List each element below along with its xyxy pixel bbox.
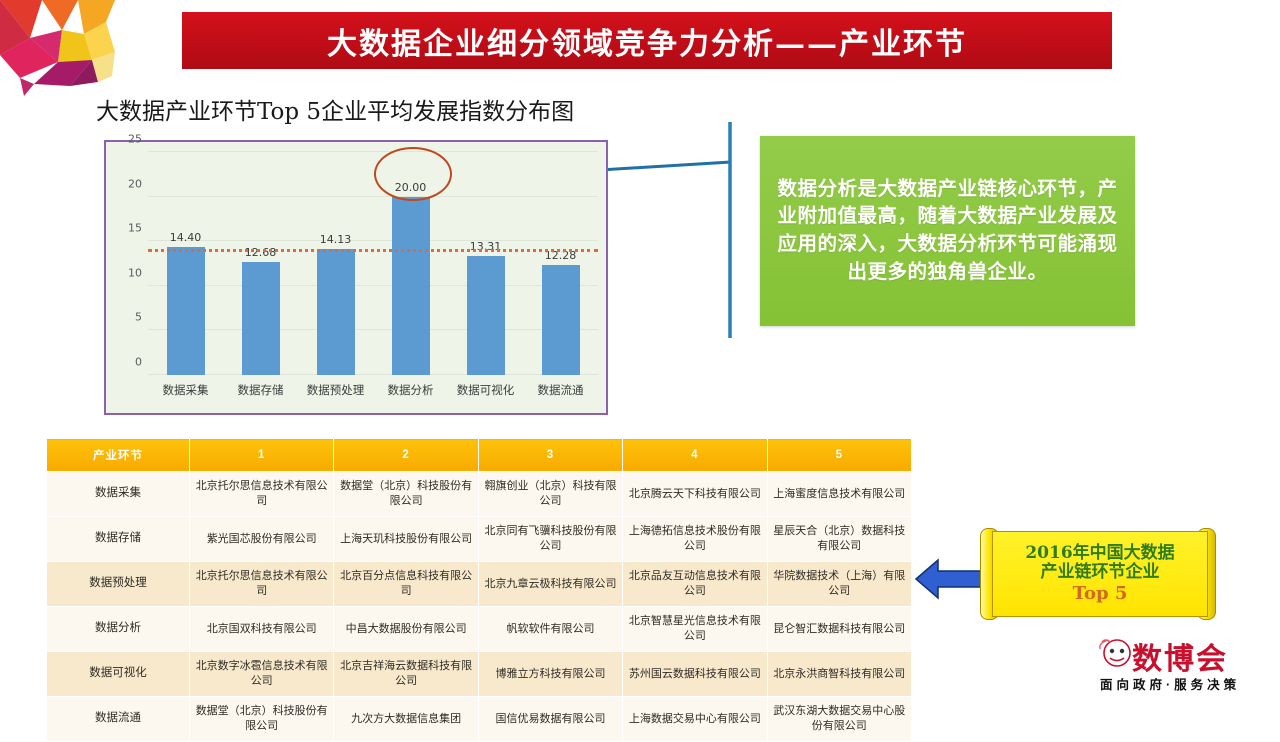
table-row: 数据可视化 北京数字冰雹信息技术有限公司 北京吉祥海云数据科技有限公司 博雅立方…: [47, 652, 912, 697]
insight-callout-text: 数据分析是大数据产业链核心环节，产业附加值最高，随着大数据产业发展及应用的深入，…: [776, 176, 1119, 287]
logo-mark-icon: [1098, 636, 1134, 670]
x-axis-label: 数据预处理: [307, 382, 365, 398]
column-header-segment: 产业环节: [47, 439, 190, 472]
cell-company: 中昌大数据股份有限公司: [334, 607, 478, 652]
column-header-rank-1: 1: [190, 439, 334, 472]
y-axis-tick: 25: [128, 133, 142, 146]
cell-company: 上海数据交易中心有限公司: [623, 697, 767, 742]
cell-company: 北京托尔思信息技术有限公司: [190, 562, 334, 607]
bar: [167, 247, 205, 375]
cell-segment: 数据分析: [47, 607, 190, 652]
bar: [467, 256, 505, 375]
x-axis-label: 数据可视化: [457, 382, 515, 398]
x-axis-label: 数据分析: [388, 382, 434, 398]
scroll-line-3: Top 5: [1073, 583, 1128, 605]
cell-company: 北京托尔思信息技术有限公司: [190, 472, 334, 517]
table-header-row: 产业环节 1 2 3 4 5: [47, 439, 912, 472]
cell-company: 北京品友互动信息技术有限公司: [623, 562, 767, 607]
x-axis-label: 数据存储: [238, 382, 284, 398]
cell-company: 九次方大数据信息集团: [334, 697, 478, 742]
cell-company: 紫光国芯股份有限公司: [190, 517, 334, 562]
cell-company: 北京九章云极科技有限公司: [478, 562, 622, 607]
cell-company: 北京智慧星光信息技术有限公司: [623, 607, 767, 652]
cell-company: 数据堂（北京）科技股份有限公司: [334, 472, 478, 517]
cell-segment: 数据流通: [47, 697, 190, 742]
column-header-rank-3: 3: [478, 439, 622, 472]
cell-company: 帆软软件有限公司: [478, 607, 622, 652]
column-header-rank-4: 4: [623, 439, 767, 472]
low-poly-decoration-icon: [0, 0, 115, 105]
brand-logo: 数博会 面向政府·服务决策: [1098, 632, 1273, 710]
x-axis-label: 数据流通: [538, 382, 584, 398]
bar-column: 12.68 数据存储: [229, 152, 292, 375]
chart-plot-area: 0 5 10 15 20 25 14.40 数据采集 12.68 数: [148, 152, 598, 375]
logo-name: 数博会: [1132, 634, 1228, 678]
slide-title-banner: 大数据企业细分领域竞争力分析——产业环节: [182, 12, 1112, 69]
y-axis-tick: 15: [128, 222, 142, 235]
cell-company: 苏州国云数据科技有限公司: [623, 652, 767, 697]
cell-company: 国信优易数据有限公司: [478, 697, 622, 742]
insight-callout: 数据分析是大数据产业链核心环节，产业附加值最高，随着大数据产业发展及应用的深入，…: [760, 136, 1135, 326]
column-header-rank-5: 5: [767, 439, 911, 472]
page-title: 大数据企业细分领域竞争力分析——产业环节: [327, 19, 967, 63]
cell-company: 武汉东湖大数据交易中心股份有限公司: [767, 697, 911, 742]
cell-company: 翱旗创业（北京）科技有限公司: [478, 472, 622, 517]
cell-company: 上海天玑科技股份有限公司: [334, 517, 478, 562]
cell-company: 北京数字冰雹信息技术有限公司: [190, 652, 334, 697]
logo-tagline: 面向政府·服务决策: [1100, 674, 1240, 693]
slide-canvas: 大数据企业细分领域竞争力分析——产业环节 大数据产业环节Top 5企业平均发展指…: [0, 0, 1280, 720]
cell-company: 北京百分点信息科技有限公司: [334, 562, 478, 607]
cell-company: 北京国双科技有限公司: [190, 607, 334, 652]
bar-value-label: 14.13: [320, 233, 352, 246]
cell-company: 北京永洪商智科技有限公司: [767, 652, 911, 697]
table-row: 数据流通 数据堂（北京）科技股份有限公司 九次方大数据信息集团 国信优易数据有限…: [47, 697, 912, 742]
bar: [392, 197, 430, 375]
table-row: 数据存储 紫光国芯股份有限公司 上海天玑科技股份有限公司 北京同有飞骥科技股份有…: [47, 517, 912, 562]
cell-segment: 数据采集: [47, 472, 190, 517]
callout-connector-line: [600, 120, 765, 340]
scroll-banner: 2016年中国大数据 产业链环节企业 Top 5: [978, 528, 1216, 620]
bar: [242, 262, 280, 375]
bar-column: 12.28 数据流通: [529, 152, 592, 375]
table-row: 数据分析 北京国双科技有限公司 中昌大数据股份有限公司 帆软软件有限公司 北京智…: [47, 607, 912, 652]
bar-column: 13.31 数据可视化: [454, 152, 517, 375]
companies-table: 产业环节 1 2 3 4 5 数据采集 北京托尔思信息技术有限公司 数据堂（北京…: [46, 438, 912, 742]
column-header-rank-2: 2: [334, 439, 478, 472]
y-axis-tick: 0: [135, 356, 142, 369]
cell-company: 北京腾云天下科技有限公司: [623, 472, 767, 517]
cell-segment: 数据存储: [47, 517, 190, 562]
highlight-ellipse-annotation: [374, 147, 452, 201]
average-reference-line: [148, 249, 598, 252]
cell-segment: 数据预处理: [47, 562, 190, 607]
cell-company: 上海蜜度信息技术有限公司: [767, 472, 911, 517]
scroll-line-2: 产业链环节企业: [1041, 563, 1160, 583]
bar-column: 14.40 数据采集: [154, 152, 217, 375]
cell-company: 星辰天合（北京）数据科技有限公司: [767, 517, 911, 562]
left-arrow-icon: [914, 556, 986, 602]
bar: [317, 249, 355, 375]
scroll-line-1: 2016年中国大数据: [1025, 544, 1174, 564]
cell-company: 华院数据技术（上海）有限公司: [767, 562, 911, 607]
cell-company: 北京吉祥海云数据科技有限公司: [334, 652, 478, 697]
y-axis-tick: 10: [128, 266, 142, 279]
scroll-paper: 2016年中国大数据 产业链环节企业 Top 5: [992, 531, 1208, 617]
x-axis-label: 数据采集: [163, 382, 209, 398]
bar-value-label: 12.68: [245, 246, 277, 259]
table-row: 数据预处理 北京托尔思信息技术有限公司 北京百分点信息科技有限公司 北京九章云极…: [47, 562, 912, 607]
chart-heading: 大数据产业环节Top 5企业平均发展指数分布图: [96, 92, 574, 126]
cell-company: 数据堂（北京）科技股份有限公司: [190, 697, 334, 742]
bar: [542, 265, 580, 375]
bar-chart: 0 5 10 15 20 25 14.40 数据采集 12.68 数: [104, 140, 608, 415]
cell-company: 昆仑智汇数据科技有限公司: [767, 607, 911, 652]
cell-company: 博雅立方科技有限公司: [478, 652, 622, 697]
cell-segment: 数据可视化: [47, 652, 190, 697]
cell-company: 北京同有飞骥科技股份有限公司: [478, 517, 622, 562]
table-row: 数据采集 北京托尔思信息技术有限公司 数据堂（北京）科技股份有限公司 翱旗创业（…: [47, 472, 912, 517]
bar-value-label: 14.40: [170, 231, 202, 244]
y-axis-tick: 20: [128, 177, 142, 190]
chart-bars: 14.40 数据采集 12.68 数据存储 14.13 数据预处理: [148, 152, 598, 375]
bar-column: 14.13 数据预处理: [304, 152, 367, 375]
cell-company: 上海德拓信息技术股份有限公司: [623, 517, 767, 562]
y-axis-tick: 5: [135, 311, 142, 324]
